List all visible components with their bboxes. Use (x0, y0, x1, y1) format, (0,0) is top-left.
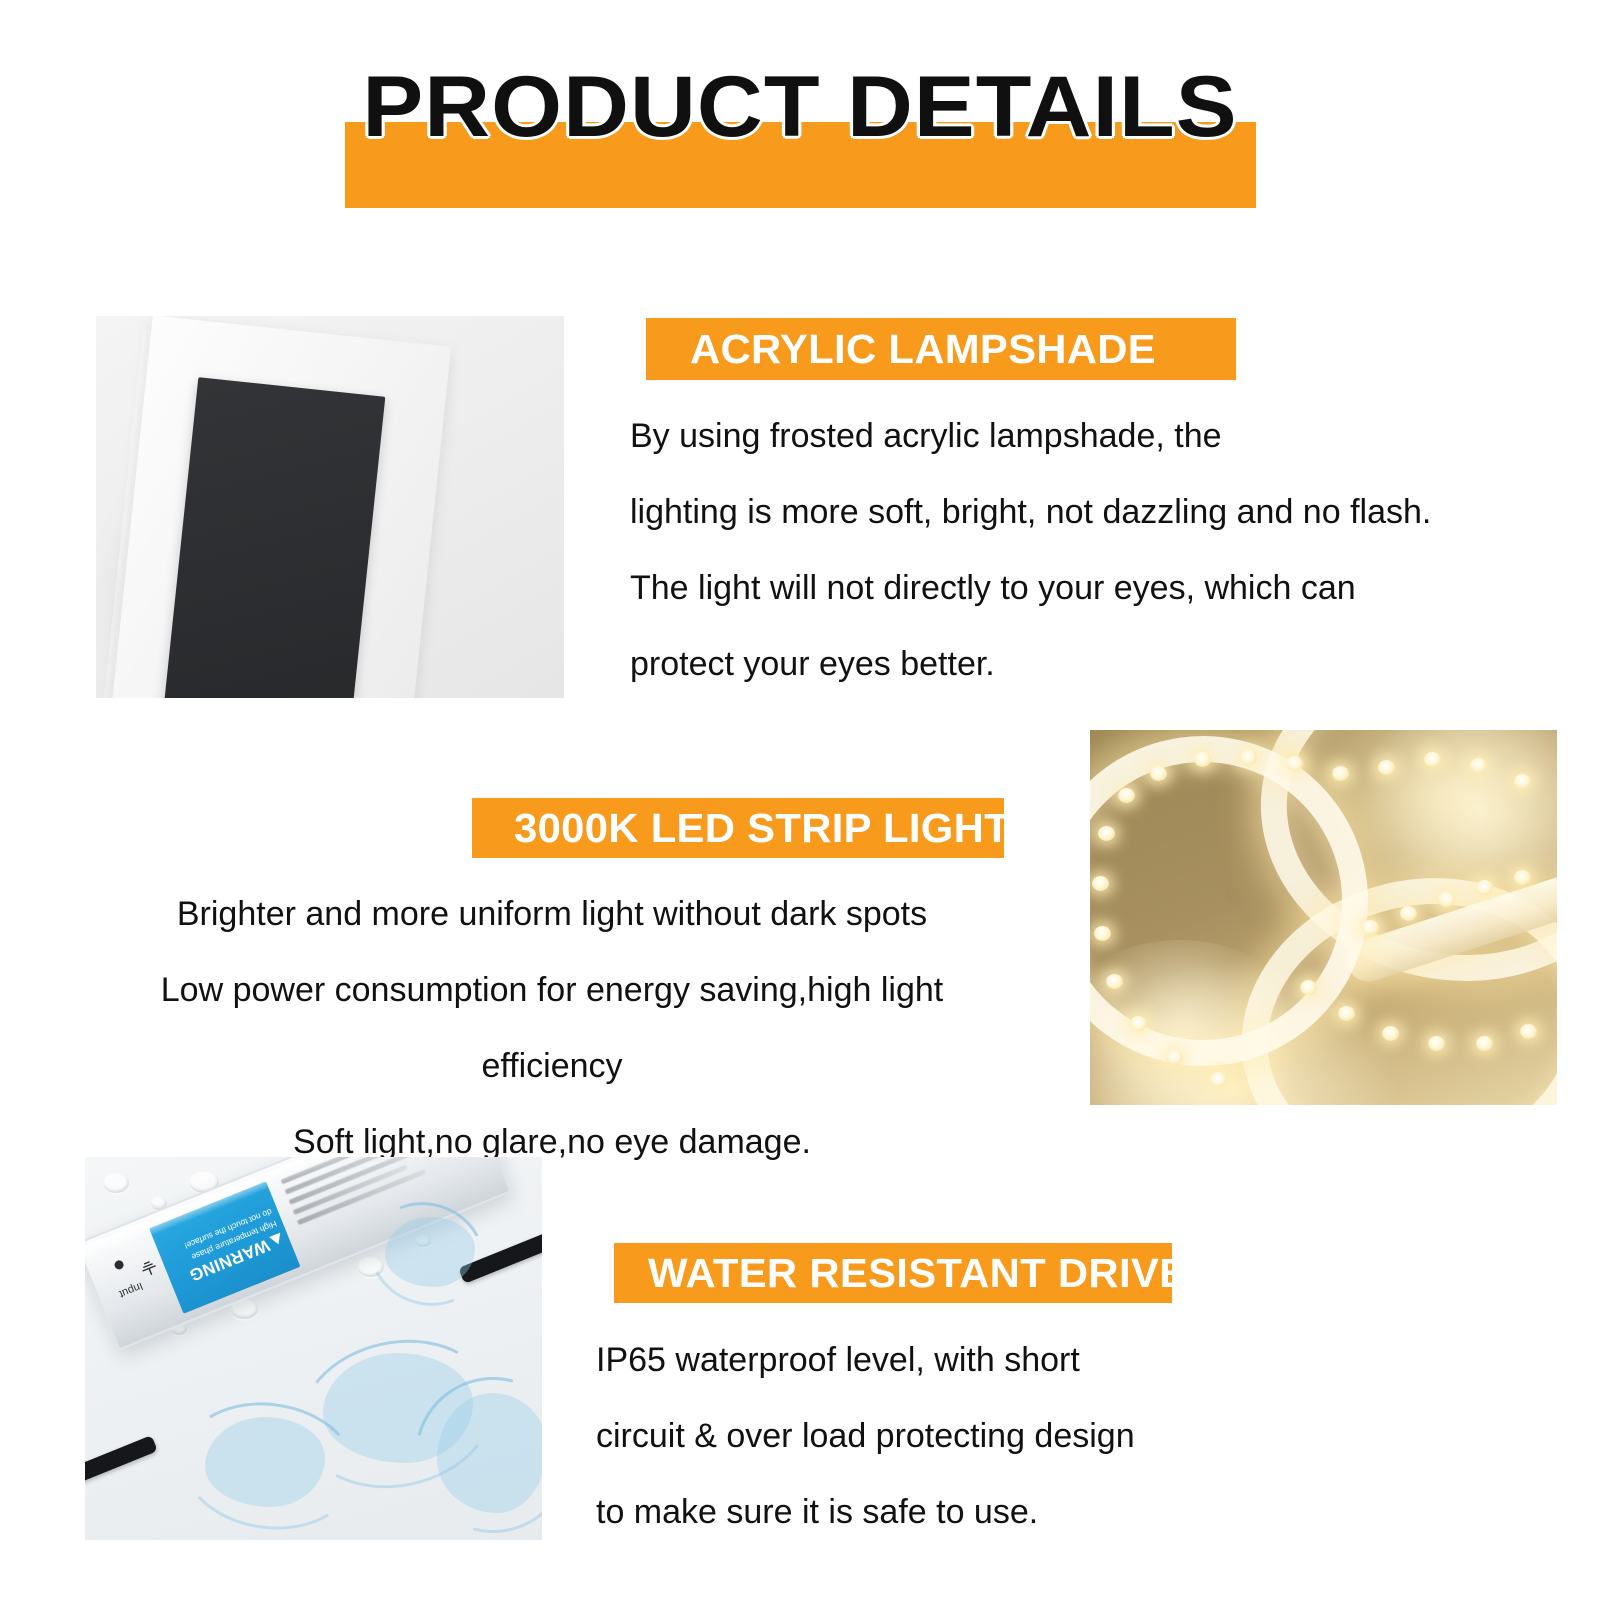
section-body-water-resistant-drive: IP65 waterproof level, with short circui… (596, 1322, 1135, 1550)
led-dot (1520, 1024, 1537, 1039)
body-line: protect your eyes better. (630, 626, 1431, 702)
dark-led-panel (159, 377, 386, 698)
section-heading-label: ACRYLIC LAMPSHADE (690, 326, 1156, 373)
led-dot (1166, 1050, 1183, 1065)
driver-input-dot (113, 1259, 125, 1271)
page-title: PRODUCT DETAILS (0, 58, 1600, 157)
led-dot (1514, 774, 1531, 789)
led-dot (1400, 906, 1417, 921)
led-dot (1118, 788, 1135, 803)
section-heading-acrylic-lampshade: ACRYLIC LAMPSHADE (646, 318, 1236, 380)
section-heading-label: 3000K LED STRIP LIGHT (514, 805, 1010, 852)
driver-input-cable (85, 1435, 158, 1496)
led-dot (1378, 760, 1395, 775)
body-line: Low power consumption for energy saving,… (100, 952, 1004, 1104)
warning-triangle-icon (269, 1233, 284, 1247)
led-dot (1362, 920, 1379, 935)
body-line: IP65 waterproof level, with short (596, 1322, 1135, 1398)
led-dot (1332, 766, 1349, 781)
body-line: The light will not directly to your eyes… (630, 550, 1431, 626)
body-line: By using frosted acrylic lampshade, the (630, 398, 1431, 474)
led-dot (1382, 1026, 1399, 1041)
body-line: circuit & over load protecting design (596, 1398, 1135, 1474)
acrylic-lampshade-photo (96, 316, 564, 698)
led-dot (1106, 974, 1123, 989)
led-dot (1194, 752, 1211, 767)
led-dot (1286, 756, 1303, 771)
warning-label: WARNING High temperature phase do not to… (149, 1181, 300, 1314)
body-line: to make sure it is safe to use. (596, 1474, 1135, 1550)
waterproof-driver-photo: WARNING High temperature phase do not to… (85, 1157, 542, 1540)
section-heading-label: WATER RESISTANT DRIVE (648, 1250, 1187, 1297)
led-dot (1130, 1016, 1147, 1031)
driver-input-label: Input (117, 1280, 144, 1300)
led-dot (1470, 758, 1487, 773)
water-droplet (103, 1173, 129, 1193)
led-dot (1300, 980, 1317, 995)
led-dot (1428, 1036, 1445, 1051)
section-body-acrylic-lampshade: By using frosted acrylic lampshade, the … (630, 398, 1431, 702)
led-strip-photo (1090, 730, 1557, 1105)
led-dot (1476, 1036, 1493, 1051)
led-dot (1098, 826, 1115, 841)
led-dot (1476, 880, 1493, 895)
led-dot (1094, 926, 1111, 941)
body-line: lighting is more soft, bright, not dazzl… (630, 474, 1431, 550)
led-dot (1338, 1006, 1355, 1021)
section-heading-water-resistant-drive: WATER RESISTANT DRIVE (614, 1243, 1172, 1303)
body-line: Brighter and more uniform light without … (100, 876, 1004, 952)
led-dot (1438, 892, 1455, 907)
led-dot (1092, 876, 1109, 891)
led-dot (1240, 750, 1257, 765)
section-heading-led-strip-light: 3000K LED STRIP LIGHT (472, 798, 1004, 858)
led-dot (1424, 752, 1441, 767)
led-dot (1150, 766, 1167, 781)
led-dot (1210, 1072, 1227, 1087)
led-dot (1514, 870, 1531, 885)
ground-symbol-icon (137, 1257, 160, 1279)
section-body-led-strip-light: Brighter and more uniform light without … (100, 876, 1004, 1180)
